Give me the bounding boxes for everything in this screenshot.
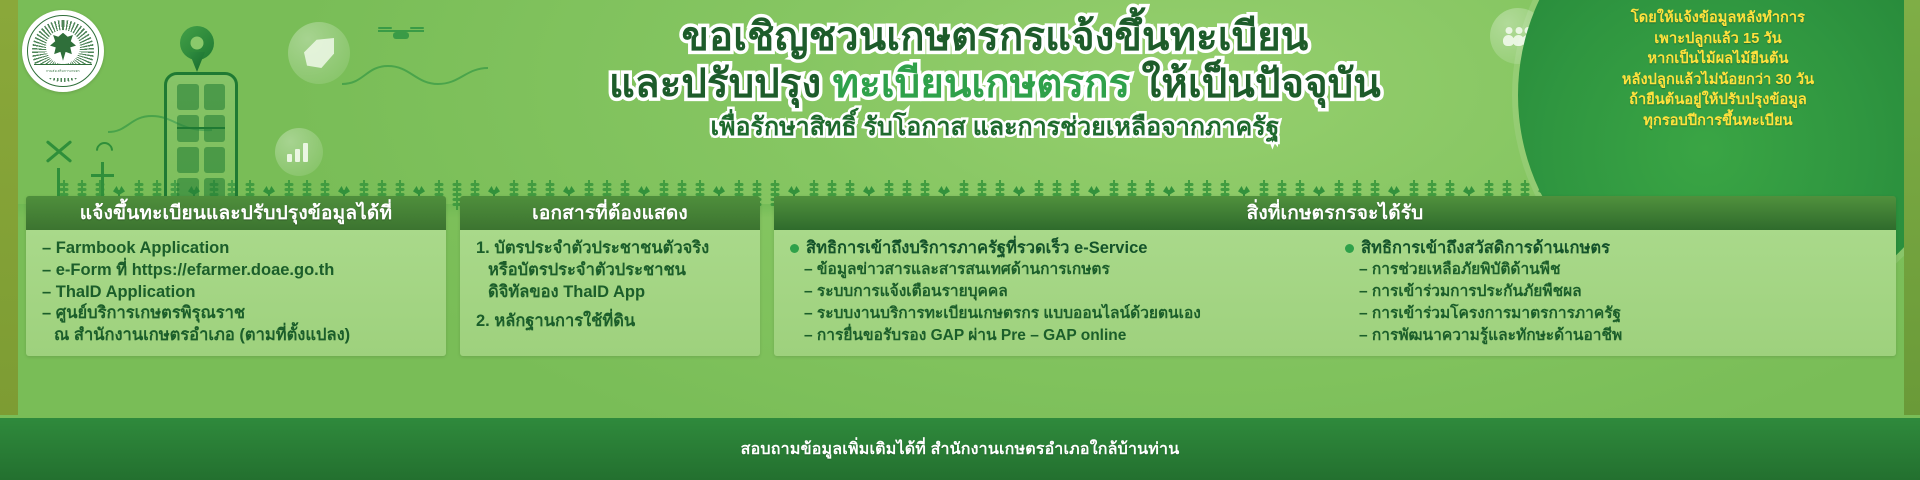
badge-line-4: หลังปลูกแล้วไม่น้อยกว่า 30 วัน: [1528, 70, 1908, 91]
benefit-heading-label: สิทธิการเข้าถึงบริการภาครัฐที่รวดเร็ว e-…: [806, 238, 1147, 259]
drone-icon: [378, 26, 424, 46]
benefits-column-welfare: สิทธิการเข้าถึงสวัสดิการด้านเกษตร – การช…: [1345, 238, 1882, 350]
page-title: ขอเชิญชวนเกษตรกรแจ้งขึ้นทะเบียน และปรับป…: [430, 14, 1560, 144]
list-item: 2. หลักฐานการใช้ที่ดิน: [476, 311, 748, 333]
headline-line-2: และปรับปรุง ทะเบียนเกษตรกร ให้เป็นปัจจุบ…: [430, 60, 1560, 109]
benefit-item: – การยื่นขอรับรอง GAP ผ่าน Pre – GAP onl…: [790, 325, 1327, 347]
wifi-sensor-icon: [88, 140, 116, 204]
list-item[interactable]: – e-Form ที่ https://efarmer.doae.go.th: [42, 260, 434, 282]
list-item: – ศูนย์บริการเกษตรพิรุณราช: [42, 303, 434, 325]
panel-register-channels: แจ้งขึ้นทะเบียนและปรับปรุงข้อมูลได้ที่ –…: [26, 196, 446, 356]
smartphone-icon: [164, 72, 238, 216]
badge-line-3: หากเป็นไม้ผลไม้ยืนต้น: [1528, 49, 1908, 70]
panel-required-documents: เอกสารที่ต้องแสดง 1. บัตรประจำตัวประชาชน…: [460, 196, 760, 356]
department-seal-icon: กรมส่งเสริมการเกษตร: [22, 10, 104, 92]
leaf-icon: [288, 22, 350, 84]
panel-farmer-benefits-title: สิ่งที่เกษตรกรจะได้รับ: [774, 196, 1896, 230]
benefit-heading-label: สิทธิการเข้าถึงสวัสดิการด้านเกษตร: [1361, 238, 1610, 259]
seal-band-label: กรมส่งเสริมการเกษตร: [34, 65, 93, 78]
left-edge-stripe: [0, 0, 18, 415]
list-item: 1. บัตรประจำตัวประชาชนตัวจริง: [476, 238, 748, 260]
panel-required-documents-body: 1. บัตรประจำตัวประชาชนตัวจริง หรือบัตรปร…: [460, 230, 760, 356]
benefit-item: – ข้อมูลข่าวสารและสารสนเทศด้านการเกษตร: [790, 259, 1327, 281]
badge-line-6: ทุกรอบปีการขึ้นทะเบียน: [1528, 111, 1908, 132]
benefit-heading: สิทธิการเข้าถึงบริการภาครัฐที่รวดเร็ว e-…: [790, 238, 1327, 259]
benefit-item: – การพัฒนาความรู้และทักษะด้านอาชีพ: [1345, 325, 1882, 347]
headline-line-2-suffix: ให้เป็นปัจจุบัน: [1130, 62, 1381, 106]
panel-farmer-benefits: สิ่งที่เกษตรกรจะได้รับ สิทธิการเข้าถึงบร…: [774, 196, 1896, 356]
panel-register-channels-body: – Farmbook Application – e-Form ที่ http…: [26, 230, 446, 356]
list-item-sub: ดิจิทัลของ ThaID App: [476, 282, 748, 304]
headline-line-3: เพื่อรักษาสิทธิ์ รับโอกาส และการช่วยเหลื…: [430, 111, 1560, 144]
benefit-item: – การเข้าร่วมการประกันภัยพืชผล: [1345, 281, 1882, 303]
list-item-sub: หรือบัตรประจำตัวประชาชน: [476, 260, 748, 282]
list-item: – Farmbook Application: [42, 238, 434, 260]
benefit-item: – การช่วยเหลือภัยพิบัติด้านพืช: [1345, 259, 1882, 281]
headline-line-2-prefix: และปรับปรุง: [609, 62, 833, 106]
panel-register-channels-title: แจ้งขึ้นทะเบียนและปรับปรุงข้อมูลได้ที่: [26, 196, 446, 230]
badge-line-1: โดยให้แจ้งข้อมูลหลังทำการ: [1528, 8, 1908, 29]
panel-required-documents-title: เอกสารที่ต้องแสดง: [460, 196, 760, 230]
list-item-sub: ณ สำนักงานเกษตรอำเภอ (ตามที่ตั้งแปลง): [42, 325, 434, 347]
notice-badge-text: โดยให้แจ้งข้อมูลหลังทำการ เพาะปลูกแล้ว 1…: [1528, 8, 1908, 131]
agriculture-registration-banner: โดยให้แจ้งข้อมูลหลังทำการ เพาะปลูกแล้ว 1…: [0, 0, 1920, 480]
headline-line-2-accent: ทะเบียนเกษตรกร: [833, 62, 1131, 106]
panel-farmer-benefits-body: สิทธิการเข้าถึงบริการภาครัฐที่รวดเร็ว e-…: [774, 230, 1896, 356]
bar-chart-icon: [275, 128, 323, 176]
benefits-column-eservice: สิทธิการเข้าถึงบริการภาครัฐที่รวดเร็ว e-…: [790, 238, 1327, 350]
info-panels-row: แจ้งขึ้นทะเบียนและปรับปรุงข้อมูลได้ที่ –…: [26, 196, 1896, 356]
footer-text: สอบถามข้อมูลเพิ่มเติมได้ที่ สำนักงานเกษต…: [741, 437, 1180, 462]
benefit-item: – การเข้าร่วมโครงการมาตรการภาครัฐ: [1345, 303, 1882, 325]
bullet-dot-icon: [790, 244, 799, 253]
headline-line-1: ขอเชิญชวนเกษตรกรแจ้งขึ้นทะเบียน: [430, 14, 1560, 60]
bullet-dot-icon: [1345, 244, 1354, 253]
benefit-heading: สิทธิการเข้าถึงสวัสดิการด้านเกษตร: [1345, 238, 1882, 259]
list-item: – ThaID Application: [42, 282, 434, 304]
benefit-item: – ระบบงานบริการทะเบียนเกษตรกร แบบออนไลน์…: [790, 303, 1327, 325]
badge-line-5: ถ้ายืนต้นอยู่ให้ปรับปรุงข้อมูล: [1528, 90, 1908, 111]
footer-bar: สอบถามข้อมูลเพิ่มเติมได้ที่ สำนักงานเกษต…: [0, 418, 1920, 480]
badge-line-2: เพาะปลูกแล้ว 15 วัน: [1528, 29, 1908, 50]
location-pin-icon: [180, 26, 214, 72]
benefit-item: – ระบบการแจ้งเตือนรายบุคคล: [790, 281, 1327, 303]
